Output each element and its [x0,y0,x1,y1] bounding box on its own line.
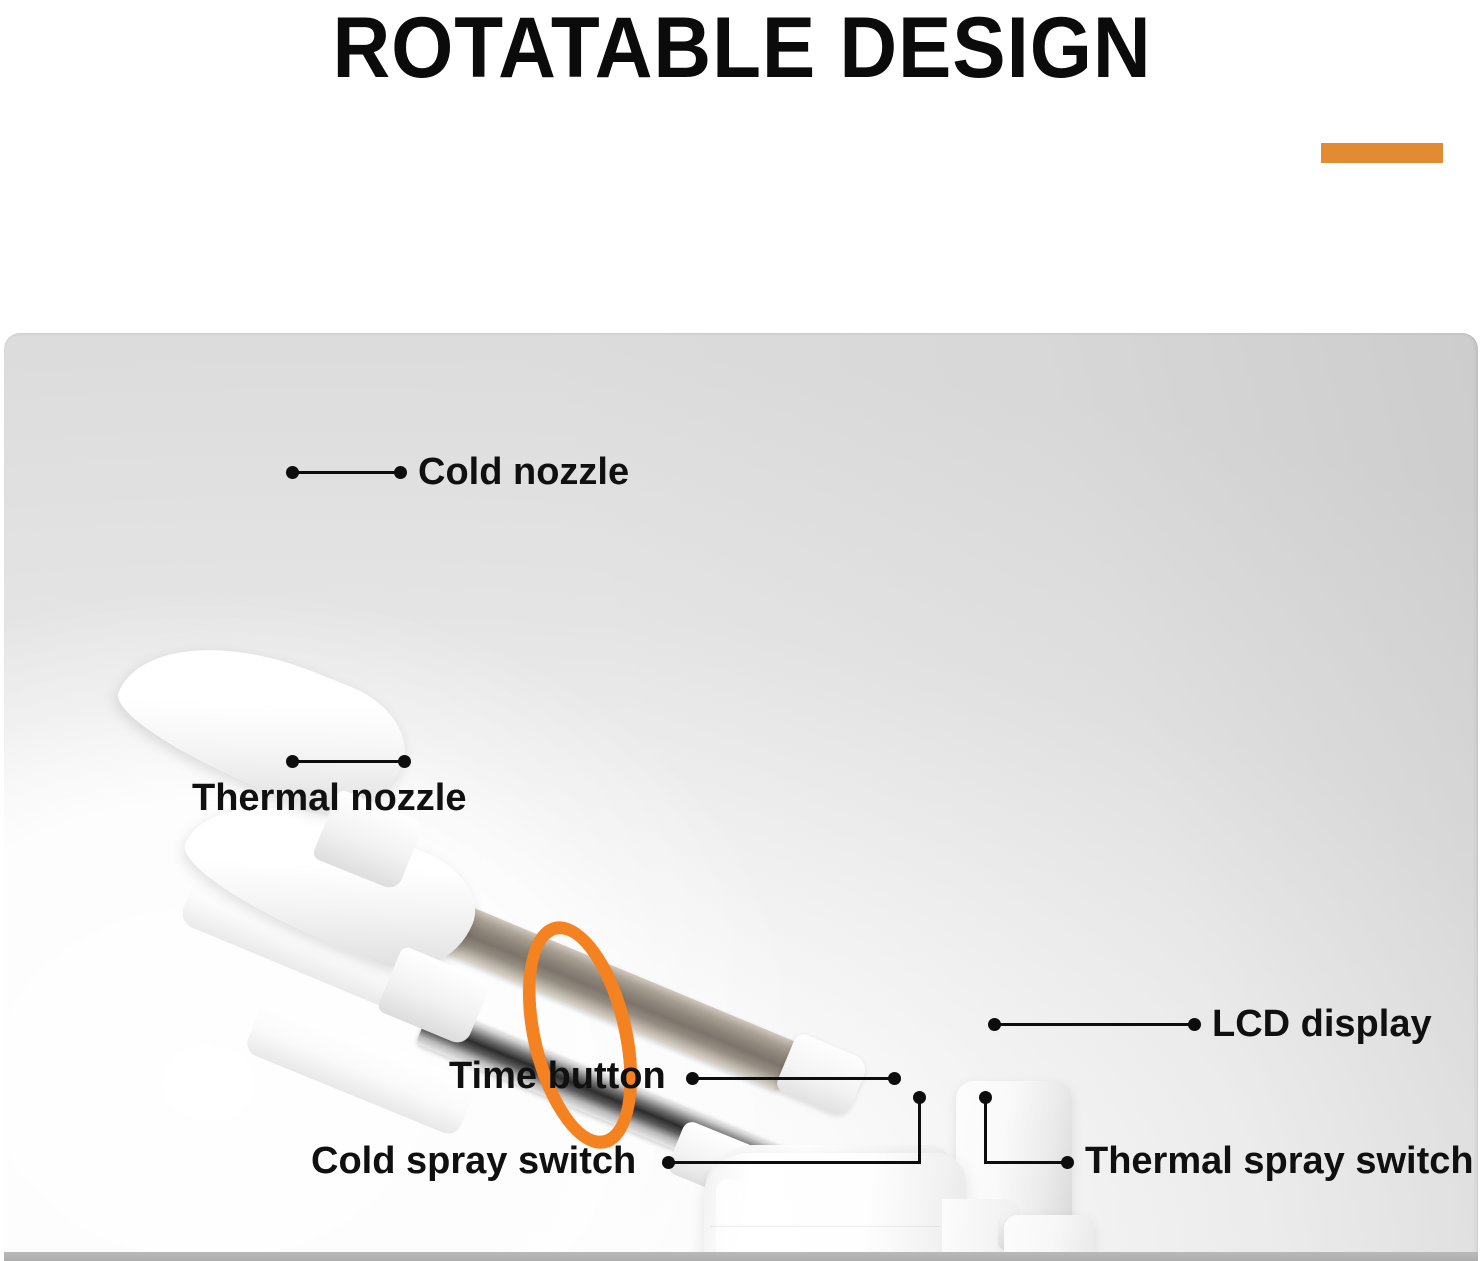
callout-label-time-button: Time button [449,1054,666,1098]
callout-line-cold-spray-horizontal [668,1161,921,1164]
callout-dot-thermal-spray-switch [1061,1156,1074,1169]
callout-label-lcd-display: LCD display [1212,1002,1432,1046]
accent-bar [1321,143,1443,163]
housing-body [704,1153,966,1261]
water-tank-lower [1004,1215,1094,1261]
callout-line-cold-spray-vertical [918,1096,921,1164]
housing-highlight [716,1179,742,1261]
callout-dot-cold-spray-switch [662,1156,675,1169]
callout-label-cold-spray-switch: Cold spray switch [311,1139,636,1183]
callout-line-time-button [692,1077,894,1080]
housing-seam [710,1226,940,1227]
callout-dot-cold-nozzle [394,466,407,479]
callout-dot-lcd-display [1188,1018,1201,1031]
water-level-window: MAX [890,1257,982,1261]
callout-line-cold-nozzle [292,471,400,474]
page-title: ROTATABLE DESIGN [52,0,1432,100]
callout-line-lcd-display [994,1023,1194,1026]
callout-label-cold-nozzle: Cold nozzle [418,450,629,494]
callout-dot-thermal-nozzle [398,755,411,768]
infographic-root: ROTATABLE DESIGN [0,0,1484,1261]
callout-line-thermal-spray-vertical [984,1096,987,1164]
callout-line-thermal-spray-horizontal [984,1161,1067,1164]
water-tank-seam [1008,1253,1088,1254]
callout-line-thermal-nozzle [292,760,404,763]
callout-dot-time-button [686,1072,699,1085]
callout-label-thermal-spray-switch: Thermal spray switch [1085,1139,1474,1183]
callout-label-thermal-nozzle: Thermal nozzle [192,776,467,820]
